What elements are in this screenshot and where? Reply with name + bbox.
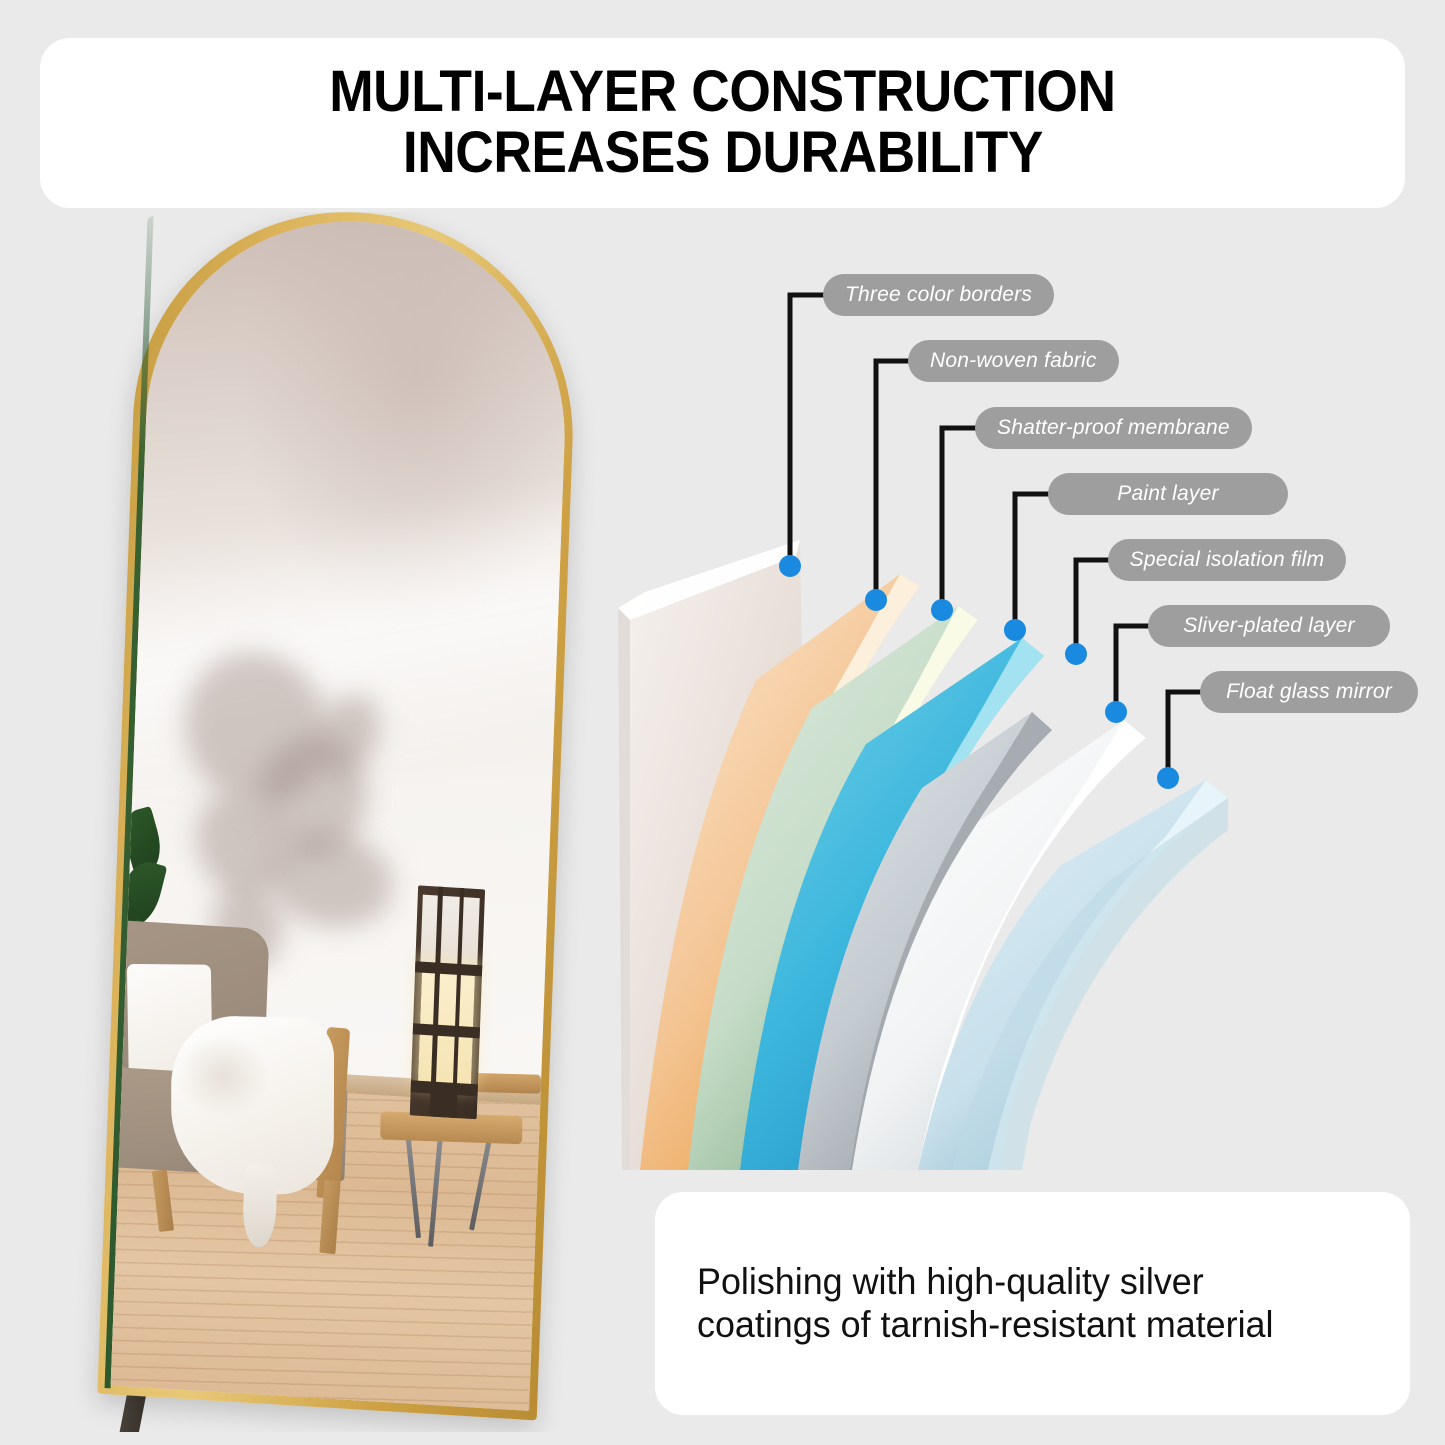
- mirror-body: [97, 212, 580, 1420]
- product-photo-mirror: [55, 212, 615, 1432]
- callout-label: Shatter-proof membrane: [997, 416, 1230, 440]
- title-line-1: MULTI-LAYER CONSTRUCTION: [329, 62, 1115, 123]
- caption-line-2: coatings of tarnish-resistant material: [697, 1304, 1273, 1346]
- caption-line-1: Polishing with high-quality silver: [697, 1261, 1204, 1303]
- title-line-2: INCREASES DURABILITY: [402, 123, 1042, 184]
- lamp-upper-opening: [421, 895, 480, 967]
- infographic-stage: MULTI-LAYER CONSTRUCTION INCREASES DURAB…: [0, 0, 1445, 1445]
- lamp-base: [430, 1093, 458, 1118]
- reflection-lantern-lamp: [410, 885, 485, 1118]
- callout-pill-three-color-borders[interactable]: Three color borders: [823, 274, 1054, 316]
- callout-label: Special isolation film: [1130, 548, 1325, 572]
- callout-label: Sliver-plated layer: [1183, 614, 1355, 638]
- callout-label: Paint layer: [1117, 482, 1218, 506]
- callout-pill-non-woven-fabric[interactable]: Non-woven fabric: [908, 340, 1119, 382]
- callout-label: Non-woven fabric: [930, 349, 1097, 373]
- callout-label: Three color borders: [845, 283, 1032, 307]
- mirror-glass-reflection: [111, 212, 572, 1411]
- callout-label: Float glass mirror: [1226, 680, 1392, 704]
- layer-stack-diagram: [600, 530, 1240, 1170]
- caption-card: Polishing with high-quality silver coati…: [655, 1192, 1410, 1415]
- callout-pill-sliver-plated-layer[interactable]: Sliver-plated layer: [1148, 605, 1390, 647]
- callout-pill-float-glass-mirror[interactable]: Float glass mirror: [1200, 671, 1418, 713]
- callout-pill-shatter-proof-membrane[interactable]: Shatter-proof membrane: [975, 407, 1252, 449]
- callout-pill-special-isolation-film[interactable]: Special isolation film: [1108, 539, 1346, 581]
- leader-line-1: [790, 295, 823, 566]
- callout-pill-paint-layer[interactable]: Paint layer: [1048, 473, 1288, 515]
- title-card: MULTI-LAYER CONSTRUCTION INCREASES DURAB…: [40, 38, 1405, 208]
